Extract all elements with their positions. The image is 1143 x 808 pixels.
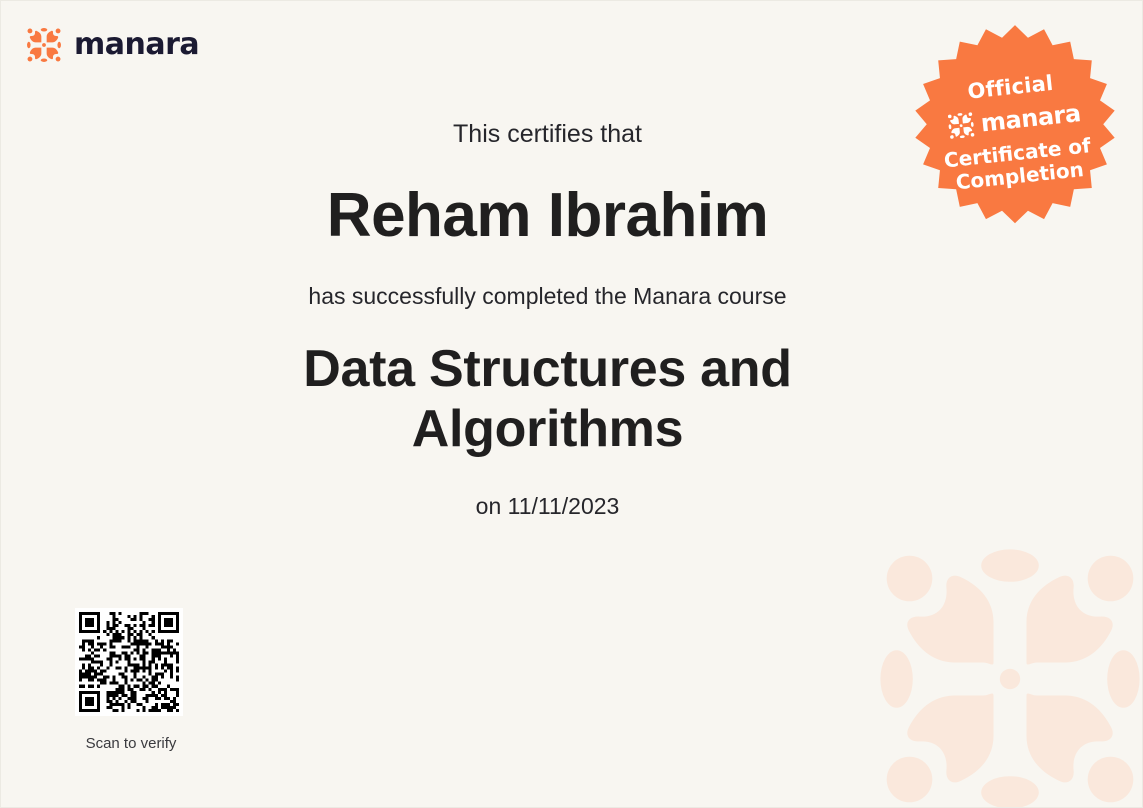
verification-block: Scan to verify: [75, 608, 187, 752]
qr-code-icon[interactable]: [75, 608, 183, 716]
certificate-body: This certifies that Reham Ibrahim has su…: [1, 119, 1094, 521]
intro-text: This certifies that: [1, 119, 1094, 149]
certificate-page: manara Official: [0, 0, 1143, 808]
brand-logo: manara: [25, 26, 199, 64]
scan-to-verify-label: Scan to verify: [75, 735, 187, 752]
completion-text: has successfully completed the Manara co…: [1, 283, 1094, 311]
manara-flower-watermark-icon: [860, 529, 1143, 808]
brand-wordmark: manara: [74, 30, 199, 60]
seal-official-label: Official: [966, 71, 1054, 104]
manara-flower-logo-icon: [25, 26, 63, 64]
recipient-name: Reham Ibrahim: [1, 183, 1094, 248]
course-title: Data Structures and Algorithms: [238, 339, 858, 460]
completion-date: on 11/11/2023: [1, 493, 1094, 521]
